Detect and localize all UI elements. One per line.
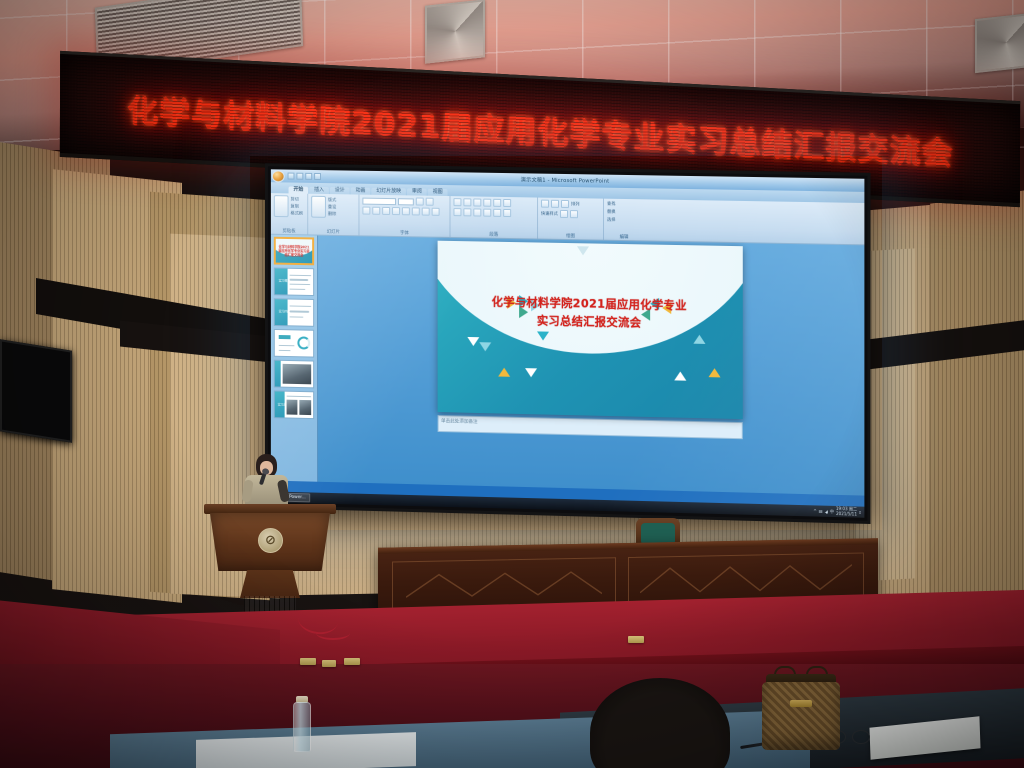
slide-thumbnail-3[interactable]: 实习内容 <box>274 298 314 327</box>
donut-chart-icon <box>297 336 310 349</box>
shape-fill-icon[interactable] <box>560 210 568 218</box>
new-slide-button[interactable] <box>311 196 326 218</box>
ime-indicator-icon[interactable]: 中 <box>830 508 834 514</box>
shapes-gallery-icon[interactable] <box>561 200 569 208</box>
cut-button[interactable]: 剪切 <box>291 196 303 202</box>
thumbnail-photo <box>282 364 310 385</box>
justify-icon[interactable] <box>483 209 491 217</box>
bench-diamond-inlay <box>406 563 602 605</box>
replace-button[interactable]: 替换 <box>607 209 641 216</box>
font-color-icon[interactable] <box>432 208 440 216</box>
system-tray[interactable]: ^ ▤ ◢ 中 19:03 周二 2021/5/11 ▯ <box>813 507 861 517</box>
thumbnail-title: 化学与材料学院2021届应用化学专业实习总结汇报交流会 <box>277 245 310 258</box>
decor-triangle <box>537 332 549 341</box>
notes-pane[interactable]: 单击此处添加备注 <box>437 415 742 439</box>
slide-thumbnail-6[interactable]: 实习总结 <box>274 390 314 419</box>
projection-screen: 演示文稿1 - Microsoft PowerPoint 开始 插入 设计 动画… <box>265 163 871 524</box>
podium-neck <box>240 570 300 598</box>
podium-top <box>204 504 336 514</box>
decor-triangle <box>525 368 537 377</box>
quick-styles-button[interactable]: 快速样式 <box>541 211 558 217</box>
handbag <box>758 664 846 752</box>
layout-button[interactable]: 版式 <box>328 197 336 203</box>
text-shadow-icon[interactable] <box>392 207 400 215</box>
slide-title[interactable]: 化学与材料学院2021届应用化学专业 实习总结汇报交流会 <box>455 292 724 334</box>
podium-cable <box>316 626 350 640</box>
decor-triangle <box>675 371 687 380</box>
powerpoint-window[interactable]: 演示文稿1 - Microsoft PowerPoint 开始 插入 设计 动画… <box>271 169 865 517</box>
clock-date: 2021/5/11 <box>836 510 857 516</box>
auditorium-photo-scene: 化学与材料学院2021届应用化学专业实习总结汇报交流会 演示文稿1 - Micr… <box>0 0 1024 768</box>
led-banner-text: 化学与材料学院2021届应用化学专业实习总结汇报交流会 <box>60 81 1020 176</box>
slide-thumbnail-panel[interactable]: 化学与材料学院2021届应用化学专业实习总结汇报交流会 实习概况 实习内容 <box>271 235 318 482</box>
align-center-icon[interactable] <box>463 208 471 216</box>
slide-thumbnail-4[interactable] <box>274 329 314 358</box>
decor-triangle <box>467 337 479 346</box>
shapes-gallery-icon[interactable] <box>551 200 559 208</box>
ribbon-group-font[interactable]: 字体 <box>359 195 450 237</box>
decor-triangle <box>693 335 705 344</box>
ribbon-group-drawing[interactable]: 排列 快速样式 绘图 <box>538 198 604 240</box>
font-name-combobox[interactable] <box>362 197 396 205</box>
slide-thumbnail-1[interactable]: 化学与材料学院2021届应用化学专业实习总结汇报交流会 <box>274 237 314 266</box>
floor-tape-marker <box>628 636 644 643</box>
arrange-button[interactable]: 排列 <box>571 201 579 207</box>
slide-thumbnail-2[interactable]: 实习概况 <box>274 267 314 296</box>
align-text-icon[interactable] <box>503 209 511 217</box>
taskbar-clock[interactable]: 19:03 周二 2021/5/11 <box>836 507 857 516</box>
ribbon-group-slides[interactable]: 版式 重设 删除 幻灯片 <box>308 194 359 236</box>
handbag-body <box>762 682 840 750</box>
current-slide[interactable]: 化学与材料学院2021届应用化学专业 实习总结汇报交流会 <box>437 241 742 419</box>
lens-right <box>852 730 870 744</box>
align-left-icon[interactable] <box>453 208 461 216</box>
decor-triangle <box>498 367 510 376</box>
ribbon-group-paragraph[interactable]: 段落 <box>450 196 538 238</box>
show-desktop-icon[interactable]: ▯ <box>859 510 861 515</box>
reset-button[interactable]: 重设 <box>328 204 336 210</box>
font-size-combobox[interactable] <box>398 198 414 205</box>
find-button[interactable]: 查找 <box>607 201 641 208</box>
ribbon-group-label: 编辑 <box>604 234 644 241</box>
ribbon-group-label: 剪贴板 <box>271 228 307 235</box>
water-bottle <box>292 696 312 752</box>
align-right-icon[interactable] <box>473 208 481 216</box>
show-hidden-icons-icon[interactable]: ^ <box>813 508 816 513</box>
slide-thumbnail-5[interactable] <box>274 360 314 389</box>
ribbon-group-label: 绘图 <box>538 233 603 240</box>
strikethrough-icon[interactable] <box>402 207 410 215</box>
floor-tape-marker <box>322 660 336 667</box>
thumbnail-photo <box>299 400 310 416</box>
bench-diamond-inlay <box>640 559 852 601</box>
line-spacing-icon[interactable] <box>493 199 501 207</box>
editor-workspace[interactable]: 化学与材料学院2021届应用化学专业实习总结汇报交流会 实习概况 实习内容 <box>271 235 865 496</box>
decrease-indent-icon[interactable] <box>473 198 481 206</box>
character-spacing-icon[interactable] <box>412 207 420 215</box>
delete-button[interactable]: 删除 <box>328 211 336 217</box>
floor-tape-marker <box>300 658 316 665</box>
columns-icon[interactable] <box>493 209 501 217</box>
text-direction-icon[interactable] <box>503 199 511 207</box>
ceiling-diffuser-icon <box>425 0 485 64</box>
italic-icon[interactable] <box>372 207 380 215</box>
shapes-gallery-icon[interactable] <box>541 200 549 208</box>
numbering-icon[interactable] <box>463 198 471 206</box>
network-icon[interactable]: ▤ <box>819 509 823 514</box>
floor-tape-marker <box>344 658 360 665</box>
paste-button[interactable] <box>274 195 289 217</box>
ribbon-group-clipboard[interactable]: 剪切 复制 格式刷 剪贴板 <box>271 193 308 234</box>
grow-font-icon[interactable] <box>416 198 424 206</box>
select-button[interactable]: 选择 <box>607 217 641 224</box>
wall-display-panel <box>0 339 72 442</box>
volume-icon[interactable]: ◢ <box>825 509 828 514</box>
thumbnail-photo <box>286 399 297 415</box>
ribbon-group-label: 幻灯片 <box>308 228 358 235</box>
bottle-body <box>293 702 311 752</box>
format-painter-button[interactable]: 格式刷 <box>291 210 303 216</box>
change-case-icon[interactable] <box>422 208 430 216</box>
bullets-icon[interactable] <box>453 198 461 206</box>
ceiling-diffuser-icon <box>975 12 1024 73</box>
decor-triangle <box>708 368 720 377</box>
shape-outline-icon[interactable] <box>570 210 578 218</box>
bold-icon[interactable] <box>362 207 370 215</box>
slide-editing-area[interactable]: 化学与材料学院2021届应用化学专业 实习总结汇报交流会 单击此处添加备注 <box>318 236 864 496</box>
handbag-clasp-icon <box>790 700 812 707</box>
underline-icon[interactable] <box>382 207 390 215</box>
decor-triangle <box>479 343 491 352</box>
ribbon-group-editing[interactable]: 查找 替换 选择 编辑 <box>604 199 644 241</box>
university-emblem-icon: ⊘ <box>258 528 283 553</box>
increase-indent-icon[interactable] <box>483 199 491 207</box>
copy-button[interactable]: 复制 <box>291 203 303 209</box>
decor-triangle <box>577 247 589 256</box>
wood-panel-right <box>930 188 1024 623</box>
shrink-font-icon[interactable] <box>426 198 434 206</box>
